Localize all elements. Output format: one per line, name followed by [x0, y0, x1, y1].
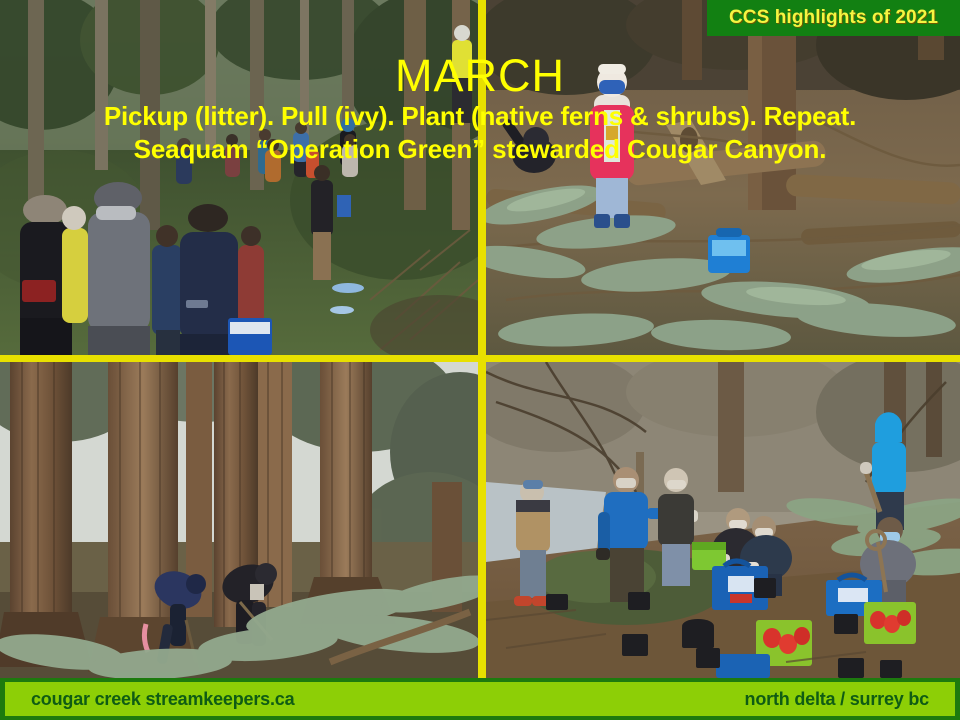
- photo-bottom-left: [0, 362, 478, 678]
- photo-bottom-right: [486, 362, 960, 678]
- header-badge-label: CCS highlights of 2021: [729, 7, 938, 29]
- poster-canvas: CCS highlights of 2021 MARCH Pickup (lit…: [0, 0, 960, 720]
- photo-collage: [0, 0, 960, 678]
- photo-top-left: [0, 0, 478, 355]
- photo-top-right: [486, 0, 960, 355]
- footer-bar: cougar creek streamkeepers.ca north delt…: [0, 678, 960, 720]
- header-badge: CCS highlights of 2021: [707, 0, 960, 36]
- footer-website-label: cougar creek streamkeepers.ca: [31, 689, 294, 710]
- footer-inner: cougar creek streamkeepers.ca north delt…: [5, 682, 955, 716]
- footer-location-label: north delta / surrey bc: [745, 689, 929, 710]
